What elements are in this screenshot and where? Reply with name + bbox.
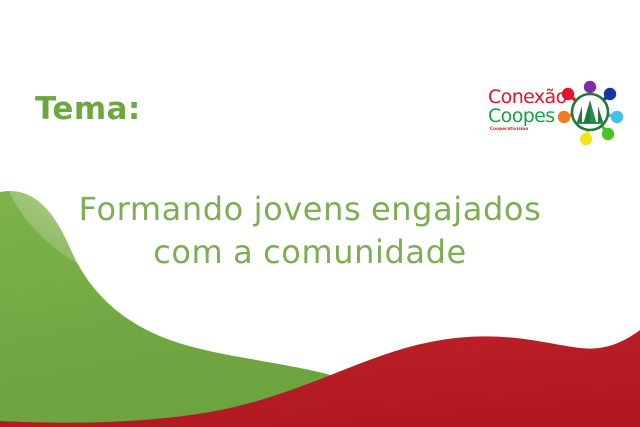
- subtitle-line-1: Formando jovens engajados: [60, 188, 560, 231]
- page-title: Tema:: [35, 94, 141, 125]
- slide-subtitle: Formando jovens engajados com a comunida…: [60, 188, 560, 273]
- logo-wordmark-line2: Coopes: [488, 105, 555, 127]
- conexao-coopes-logo: Conexão Coopes Cooperativismo: [486, 76, 630, 148]
- presentation-slide: Tema: Formando jovens engajados com a co…: [0, 0, 640, 427]
- node-lower-right-icon: [602, 128, 614, 140]
- node-right-icon: [611, 111, 623, 123]
- node-upper-right-icon: [604, 88, 616, 100]
- node-lower-left-icon: [558, 111, 570, 123]
- subtitle-line-2: com a comunidade: [60, 231, 560, 274]
- node-top-icon: [584, 81, 596, 93]
- logo-tagline: Cooperativismo: [490, 126, 528, 131]
- logo-emblem-circle: [572, 94, 608, 130]
- node-bottom-icon: [580, 133, 592, 145]
- node-upper-left-icon: [562, 88, 574, 100]
- logo-graphic: Conexão Coopes Cooperativismo: [486, 76, 630, 148]
